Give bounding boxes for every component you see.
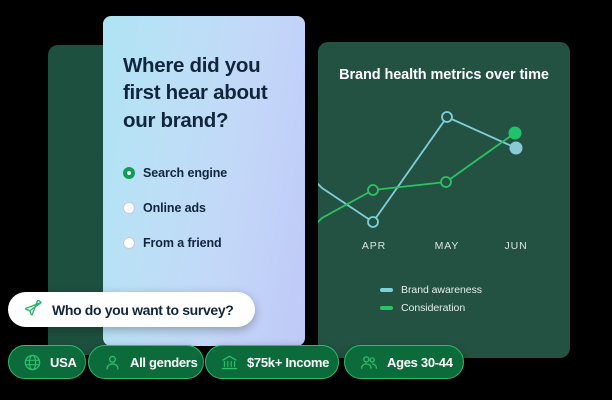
filter-pill-income[interactable]: $75k+ Income [205, 345, 339, 379]
data-point-awareness-may [442, 112, 452, 122]
radio-selected-icon[interactable] [123, 167, 135, 179]
data-point-consideration-apr [368, 185, 378, 195]
legend-swatch-icon [380, 288, 393, 292]
filter-pill-label: Ages 30-44 [387, 355, 453, 370]
legend-label: Brand awareness [401, 284, 482, 296]
survey-options-list: Search engine Online ads From a friend [123, 166, 291, 250]
filter-pill-gender[interactable]: All genders [88, 345, 204, 379]
prompt-text: Who do you want to survey? [52, 302, 233, 318]
radio-unselected-icon[interactable] [123, 237, 135, 249]
x-tick-label-may: MAY [435, 240, 460, 252]
survey-option-online-ads[interactable]: Online ads [123, 201, 291, 215]
x-tick-label-apr: APR [362, 240, 386, 252]
brand-health-chart-card: Brand health metrics over time APR MAY J… [318, 42, 570, 358]
survey-card-content: Where did you first hear about our brand… [123, 52, 291, 271]
person-icon [103, 353, 122, 372]
filter-pill-country[interactable]: USA [8, 345, 86, 379]
data-point-consideration-jun [509, 127, 522, 140]
survey-option-search-engine[interactable]: Search engine [123, 166, 291, 180]
filter-pill-label: $75k+ Income [247, 355, 329, 370]
screenshot-root: Where did you first hear about our brand… [0, 0, 612, 400]
data-point-consideration-may [441, 177, 451, 187]
chart-legend: Brand awareness Consideration [380, 284, 482, 320]
radio-unselected-icon[interactable] [123, 202, 135, 214]
paper-plane-icon [24, 300, 43, 319]
chart-x-axis-labels: APR MAY JUN [318, 240, 570, 256]
people-icon [359, 353, 379, 372]
x-tick-label-jun: JUN [504, 240, 527, 252]
filter-pill-age[interactable]: Ages 30-44 [344, 345, 464, 379]
legend-swatch-icon [380, 306, 393, 310]
survey-question: Where did you first hear about our brand… [123, 52, 291, 134]
survey-option-label: From a friend [143, 236, 222, 250]
data-point-awareness-jun [510, 142, 523, 155]
legend-label: Consideration [401, 302, 465, 314]
globe-icon [23, 353, 42, 372]
filter-pill-label: USA [50, 355, 77, 370]
legend-item-consideration: Consideration [380, 302, 482, 314]
bank-icon [220, 353, 239, 372]
data-point-awareness-apr [368, 217, 378, 227]
series-line-consideration [318, 133, 515, 228]
series-line-brand-awareness [318, 117, 516, 222]
survey-option-from-a-friend[interactable]: From a friend [123, 236, 291, 250]
survey-audience-prompt[interactable]: Who do you want to survey? [8, 292, 255, 327]
legend-item-brand-awareness: Brand awareness [380, 284, 482, 296]
survey-option-label: Online ads [143, 201, 206, 215]
filter-pill-label: All genders [130, 355, 198, 370]
survey-option-label: Search engine [143, 166, 227, 180]
